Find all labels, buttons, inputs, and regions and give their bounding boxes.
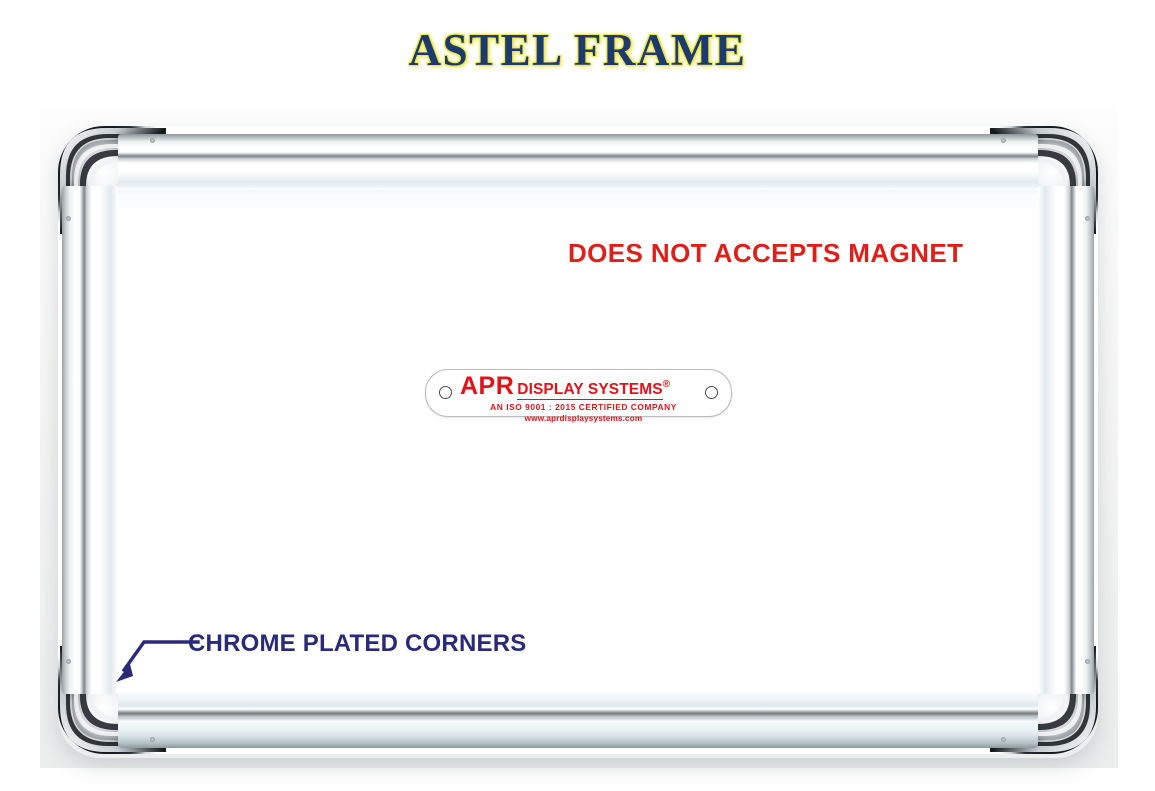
aluminium-rail-top	[118, 134, 1038, 190]
rail-screw	[1001, 138, 1006, 143]
rail-screw	[150, 737, 155, 742]
rail-screw	[150, 138, 155, 143]
rail-screw	[1085, 659, 1090, 664]
apr-logo-badge: APR DISPLAY SYSTEMS ® AN ISO 9001 : 2015…	[425, 369, 732, 417]
badge-website-line: www.aprdisplaysystems.com	[460, 414, 707, 423]
badge-brand-line: APR DISPLAY SYSTEMS ®	[460, 374, 707, 400]
aluminium-rail-right	[1038, 186, 1094, 694]
product-image-canvas: ASTEL FRAME	[0, 0, 1155, 791]
magnet-warning-label: DOES NOT ACCEPTS MAGNET	[568, 238, 963, 269]
rail-screw	[66, 216, 71, 221]
aluminium-rail-left	[62, 186, 118, 694]
badge-rivet-hole-left-icon	[439, 386, 452, 399]
badge-certification-line: AN ISO 9001 : 2015 CERTIFIED COMPANY	[460, 402, 707, 412]
callout-arrow-icon	[108, 624, 200, 688]
chrome-corners-label: CHROME PLATED CORNERS	[188, 630, 526, 658]
registered-trademark-icon: ®	[663, 380, 670, 390]
badge-brand-main: APR	[460, 374, 514, 399]
rail-screw	[1001, 737, 1006, 742]
badge-brand-rest: DISPLAY SYSTEMS	[517, 382, 662, 400]
rail-screw	[66, 659, 71, 664]
rail-screw	[1085, 216, 1090, 221]
aluminium-rail-bottom	[118, 690, 1038, 748]
page-title: ASTEL FRAME	[0, 24, 1155, 76]
